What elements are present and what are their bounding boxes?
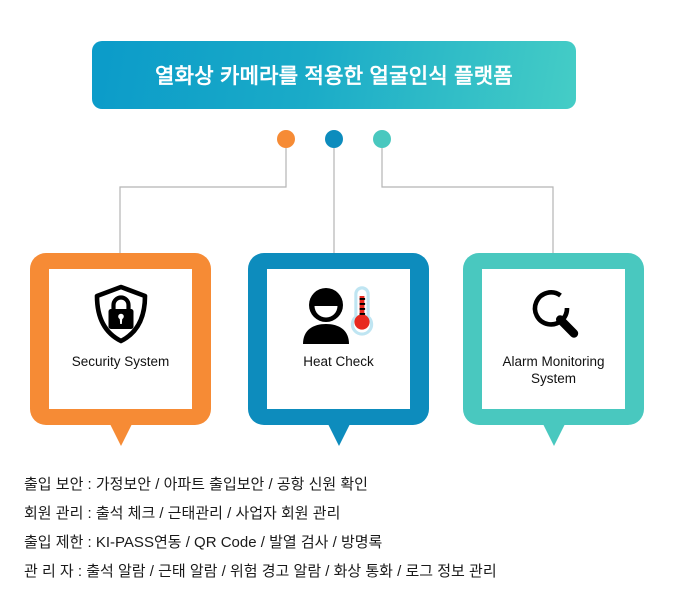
card-security-inner: Security System <box>49 269 192 409</box>
dot-security-icon <box>277 130 295 148</box>
description-line-access-restriction: 출입 제한 : KI-PASS연동 / QR Code / 발열 검사 / 방명… <box>24 528 674 557</box>
dot-alarm-icon <box>373 130 391 148</box>
card-heat-label: Heat Check <box>267 353 410 370</box>
card-alarm-monitoring-system[interactable]: Alarm Monitoring System <box>463 253 644 425</box>
person-thermometer-icon <box>301 283 377 345</box>
magnifier-icon <box>526 283 582 345</box>
infographic-root: 열화상 카메라를 적용한 얼굴인식 플랫폼 <box>0 0 692 606</box>
card-security-tail <box>110 424 132 446</box>
card-alarm-tail <box>543 424 565 446</box>
card-heat-check[interactable]: Heat Check <box>248 253 429 425</box>
card-alarm-label-line2: System <box>482 370 625 387</box>
description-list: 출입 보안 : 가정보안 / 아파트 출입보안 / 공항 신원 확인 회원 관리… <box>24 470 674 586</box>
description-line-member-management: 회원 관리 : 출석 체크 / 근태관리 / 사업자 회원 관리 <box>24 499 674 528</box>
card-heat-inner: Heat Check <box>267 269 410 409</box>
description-line-access-security: 출입 보안 : 가정보안 / 아파트 출입보안 / 공항 신원 확인 <box>24 470 674 499</box>
dot-heat-icon <box>325 130 343 148</box>
connector-path-security <box>120 148 286 253</box>
card-alarm-label: Alarm Monitoring System <box>482 353 625 387</box>
card-security-system[interactable]: Security System <box>30 253 211 425</box>
connector-path-alarm <box>382 148 553 253</box>
card-security-label: Security System <box>49 353 192 370</box>
description-line-administrator: 관 리 자 : 출석 알람 / 근태 알람 / 위험 경고 알람 / 화상 통화… <box>24 557 674 586</box>
card-heat-tail <box>328 424 350 446</box>
connector-diagram <box>0 0 692 260</box>
card-alarm-label-line1: Alarm Monitoring <box>482 353 625 370</box>
shield-lock-icon <box>92 283 150 345</box>
card-alarm-inner: Alarm Monitoring System <box>482 269 625 409</box>
